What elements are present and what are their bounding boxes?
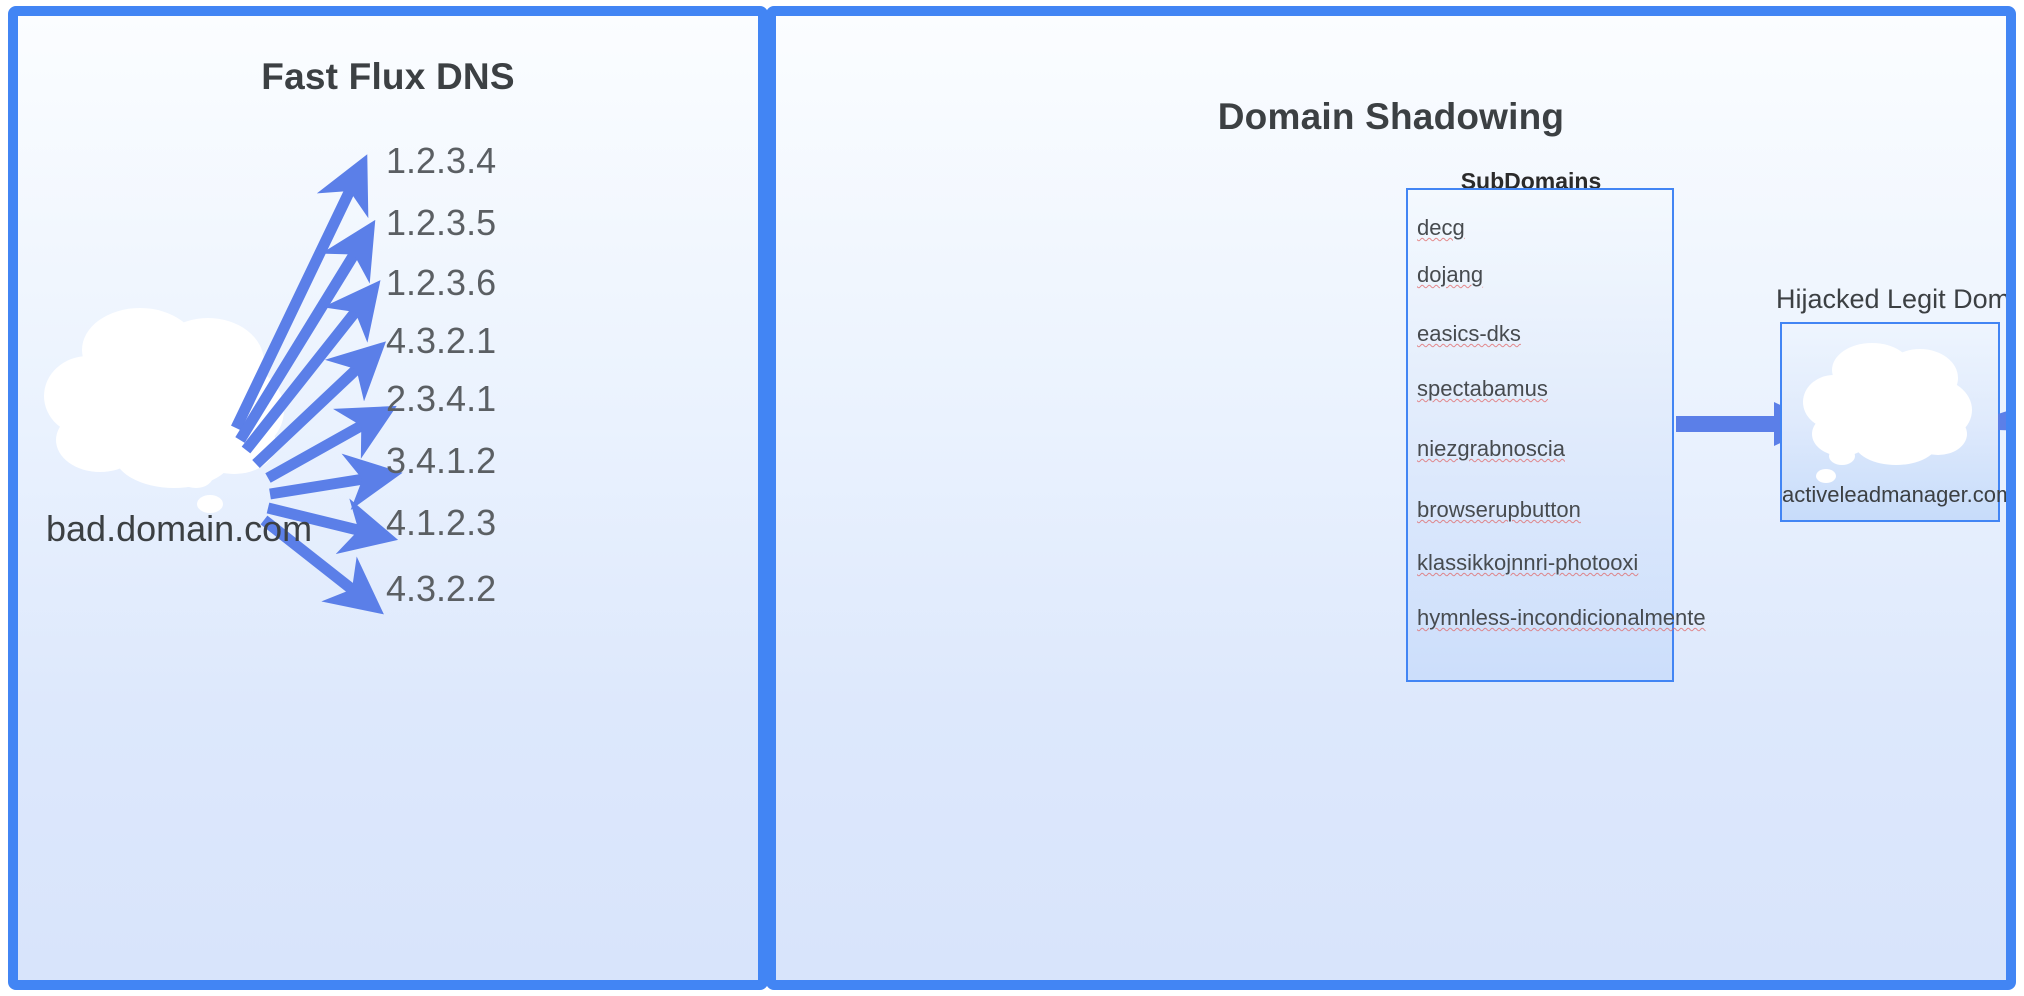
subdomain-list-item: klassikkojnnri-photooxi — [1417, 550, 1638, 576]
subdomain-list-item: spectabamus — [1417, 376, 1548, 402]
resolved-ip-label: 2.3.4.1 — [386, 378, 496, 420]
cloud-icon — [1796, 336, 1996, 486]
resolved-ip-label: 3.4.1.2 — [386, 440, 496, 482]
panel-title-fast-flux-dns: Fast Flux DNS — [18, 56, 758, 98]
subdomain-list-item: dojang — [1417, 262, 1483, 288]
resolved-ip-label: 1.2.3.6 — [386, 262, 496, 304]
panel-title-domain-shadowing: Domain Shadowing — [776, 96, 2006, 138]
subdomain-list-item: decg — [1417, 215, 1465, 241]
arrow-fork-icon — [1998, 362, 2016, 482]
subdomain-list-item: niezgrabnoscia — [1417, 436, 1565, 462]
resolved-ip-label: 4.3.2.1 — [386, 320, 496, 362]
panel-fast-flux-dns: Fast Flux DNS — [8, 6, 768, 990]
panel-domain-shadowing: Domain Shadowing SubDomains decg dojang … — [766, 6, 2016, 990]
subdomain-list-item: easics-dks — [1417, 321, 1521, 347]
resolved-ip-label: 4.1.2.3 — [386, 502, 496, 544]
hijacked-domain-box: activeleadmanager.com — [1780, 322, 2000, 522]
diagram-canvas: Fast Flux DNS — [0, 0, 2024, 996]
hijacked-domain-caption: Hijacked Legit Domain — [1776, 284, 2004, 315]
subdomain-list-item: hymnless-incondicionalmente — [1417, 605, 1706, 631]
subdomain-list-item: browserupbutton — [1417, 497, 1581, 523]
source-domain-label: bad.domain.com — [46, 508, 312, 550]
cloud-icon — [40, 304, 340, 534]
subdomains-box: decg dojang easics-dks spectabamus niezg… — [1406, 188, 1674, 682]
resolved-ip-label: 1.2.3.5 — [386, 202, 496, 244]
resolved-ip-label: 4.3.2.2 — [386, 568, 496, 610]
hijacked-domain-name: activeleadmanager.com — [1782, 482, 2002, 508]
resolved-ip-label: 1.2.3.4 — [386, 140, 496, 182]
